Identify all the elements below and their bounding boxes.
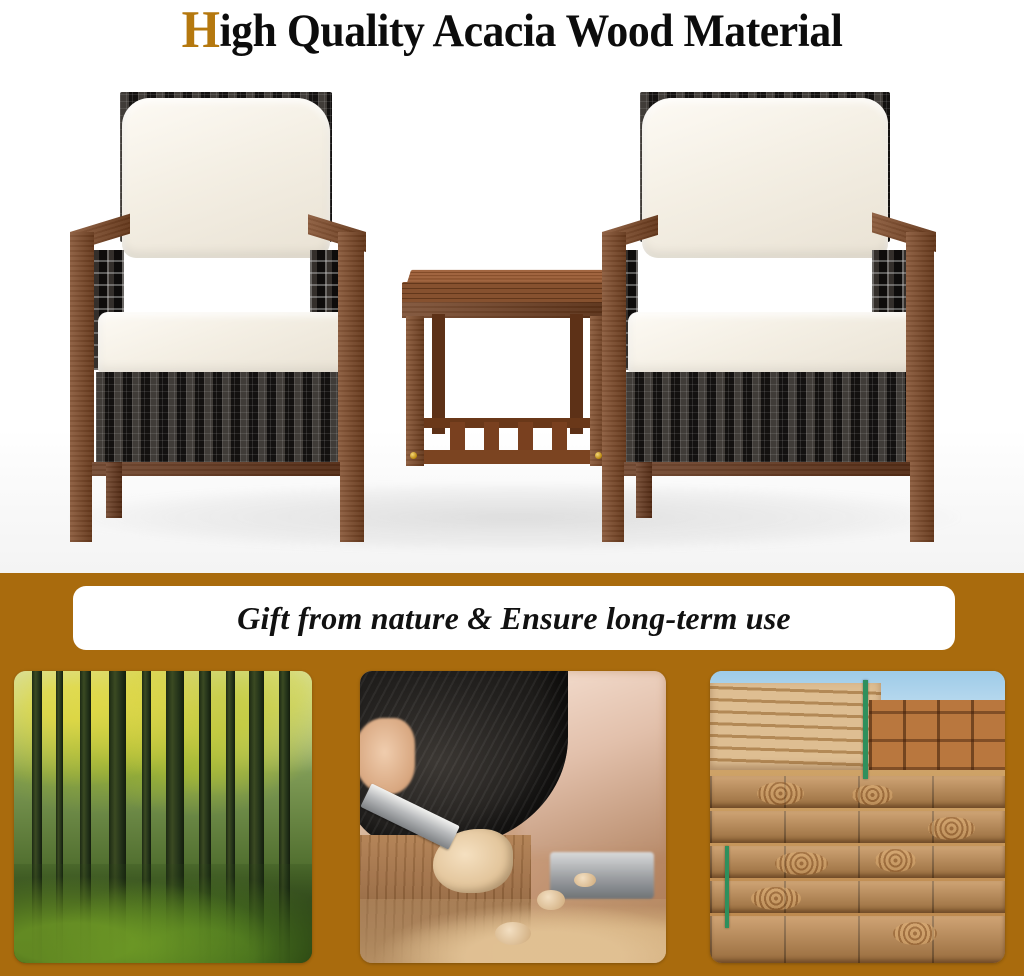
chair-right-arm-post bbox=[338, 232, 364, 472]
chair-right-arm-post bbox=[906, 232, 934, 472]
page-title: High Quality Acacia Wood Material bbox=[36, 0, 988, 62]
right-armchair bbox=[600, 84, 960, 514]
chair-front-right-leg bbox=[910, 462, 934, 542]
chair-front-left-leg bbox=[70, 462, 92, 542]
chair-back-left-leg bbox=[636, 462, 652, 518]
chair-seat-cushion bbox=[628, 312, 920, 374]
panel-forest bbox=[14, 671, 312, 963]
product-infographic: High Quality Acacia Wood Material bbox=[0, 0, 1024, 976]
chair-front-left-leg bbox=[602, 462, 624, 542]
chair-left-arm-post bbox=[602, 232, 626, 472]
table-shelf-front-rail bbox=[422, 450, 592, 464]
craftsman-image bbox=[360, 671, 666, 963]
panel-craftsman bbox=[360, 671, 666, 963]
left-armchair bbox=[62, 84, 382, 514]
side-table bbox=[398, 222, 616, 492]
hand-plane-tool bbox=[550, 852, 654, 899]
forest-undergrowth bbox=[14, 864, 312, 963]
chair-back-cushion bbox=[122, 98, 330, 258]
brass-screw bbox=[410, 452, 417, 459]
beam-row bbox=[710, 846, 1005, 878]
chair-seat-cushion bbox=[98, 312, 352, 374]
chair-left-arm-post bbox=[70, 232, 94, 472]
title-rest: igh Quality Acacia Wood Material bbox=[219, 4, 842, 58]
green-strapping bbox=[863, 680, 868, 779]
hero-product-photo bbox=[0, 62, 1024, 573]
top-plank-stack bbox=[710, 683, 881, 771]
craftsman-hand bbox=[360, 718, 415, 794]
growth-ring bbox=[852, 785, 893, 805]
panel-lumber bbox=[710, 671, 1005, 963]
lumber-stack-image bbox=[710, 671, 1005, 963]
table-front-left-leg bbox=[406, 316, 424, 466]
chair-back-cushion bbox=[642, 98, 888, 258]
slogan-text: Gift from nature & Ensure long-term use bbox=[237, 600, 791, 637]
forest-image bbox=[14, 671, 312, 963]
chair-base-rattan-skirt bbox=[96, 372, 354, 462]
chair-back-left-leg bbox=[106, 462, 122, 518]
beam-row bbox=[710, 916, 1005, 963]
slogan-box: Gift from nature & Ensure long-term use bbox=[73, 586, 955, 650]
right-beam-stack bbox=[869, 700, 1005, 770]
title-drop-cap: H bbox=[182, 7, 220, 55]
chair-front-right-leg bbox=[340, 462, 364, 542]
table-top-edge bbox=[402, 282, 612, 304]
green-strapping bbox=[725, 846, 730, 928]
wood-shaving bbox=[574, 873, 595, 888]
table-back-left-leg bbox=[432, 314, 445, 434]
table-back-right-leg bbox=[570, 314, 583, 434]
chair-base-rattan-skirt bbox=[626, 372, 922, 462]
benefits-band: Gift from nature & Ensure long-term use bbox=[0, 573, 1024, 976]
